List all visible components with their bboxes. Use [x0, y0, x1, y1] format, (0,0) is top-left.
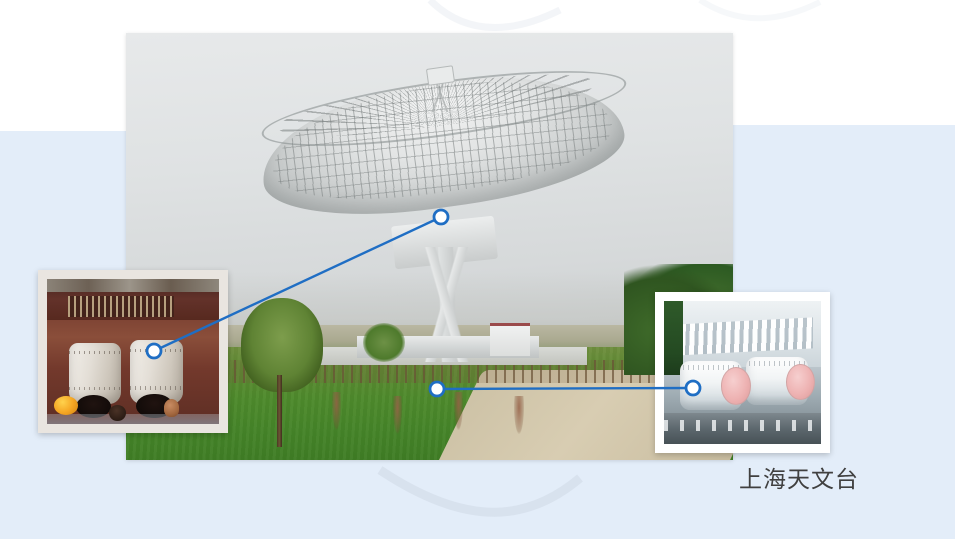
- ground-puddle: [47, 414, 219, 424]
- gear-rack-teeth: [68, 296, 175, 316]
- slide-canvas: 上海天文台: [0, 0, 955, 539]
- sapling: [454, 392, 463, 430]
- foreground-tree-canopy: [241, 298, 323, 392]
- motor-end-cap: [721, 367, 751, 405]
- inset-right-image: [664, 301, 821, 444]
- inset-photo-right: [655, 292, 830, 453]
- photo-caption: 上海天文台: [739, 468, 859, 491]
- midground-tree: [363, 323, 405, 361]
- beam-top-plate: [47, 279, 219, 292]
- sapling: [393, 396, 402, 434]
- background-trees: [664, 301, 683, 375]
- inset-left-image: [47, 279, 219, 424]
- sapling: [514, 396, 523, 434]
- inset-photo-left: [38, 270, 228, 433]
- dish-assembly: [260, 67, 624, 238]
- rail-bolts: [664, 420, 821, 431]
- sapling: [332, 392, 341, 430]
- equipment-hut: [490, 323, 529, 356]
- worker-head: [164, 399, 179, 416]
- foreground-tree-trunk: [277, 375, 282, 448]
